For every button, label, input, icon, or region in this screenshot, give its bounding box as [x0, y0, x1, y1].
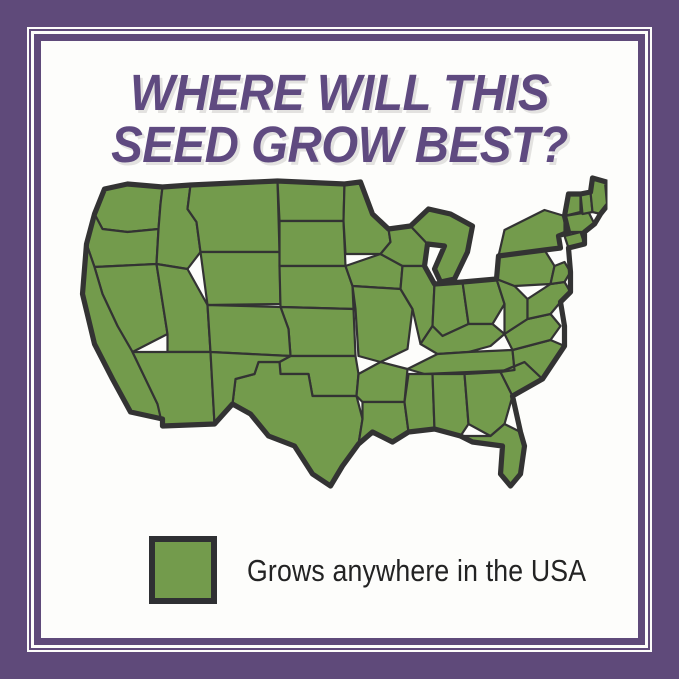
- state-nebraska: [279, 266, 353, 309]
- state-kansas: [280, 307, 355, 356]
- page-title: WHERE WILL THIS SEED GROW BEST?: [41, 67, 638, 171]
- state-utah: [156, 264, 210, 352]
- decorative-frame-inner: WHERE WILL THIS SEED GROW BEST?: [31, 31, 648, 648]
- state-missouri: [352, 286, 412, 362]
- united-states-map: [72, 174, 607, 494]
- map-states-group: [82, 178, 607, 486]
- state-tennessee: [407, 350, 514, 374]
- us-map-svg: [72, 174, 607, 494]
- decorative-frame-outer: WHERE WILL THIS SEED GROW BEST?: [27, 27, 652, 652]
- state-alabama: [432, 374, 468, 436]
- state-north-dakota: [277, 181, 344, 221]
- content-field: WHERE WILL THIS SEED GROW BEST?: [41, 41, 638, 638]
- title-line-2: SEED GROW BEST?: [62, 119, 617, 171]
- decorative-frame-band: WHERE WILL THIS SEED GROW BEST?: [34, 34, 645, 645]
- legend-label: Grows anywhere in the USA: [247, 555, 586, 586]
- infographic-poster: WHERE WILL THIS SEED GROW BEST?: [0, 0, 679, 679]
- title-line-1: WHERE WILL THIS: [62, 67, 617, 119]
- map-legend: Grows anywhere in the USA: [149, 536, 638, 604]
- decorative-frame-middle: WHERE WILL THIS SEED GROW BEST?: [29, 29, 650, 650]
- state-arkansas: [356, 362, 407, 402]
- legend-color-swatch: [149, 536, 217, 604]
- state-mississippi: [404, 374, 434, 432]
- state-montana: [187, 181, 279, 252]
- state-colorado: [207, 305, 290, 356]
- state-wyoming: [200, 252, 280, 305]
- state-south-dakota: [279, 221, 345, 266]
- state-kentucky: [420, 324, 504, 354]
